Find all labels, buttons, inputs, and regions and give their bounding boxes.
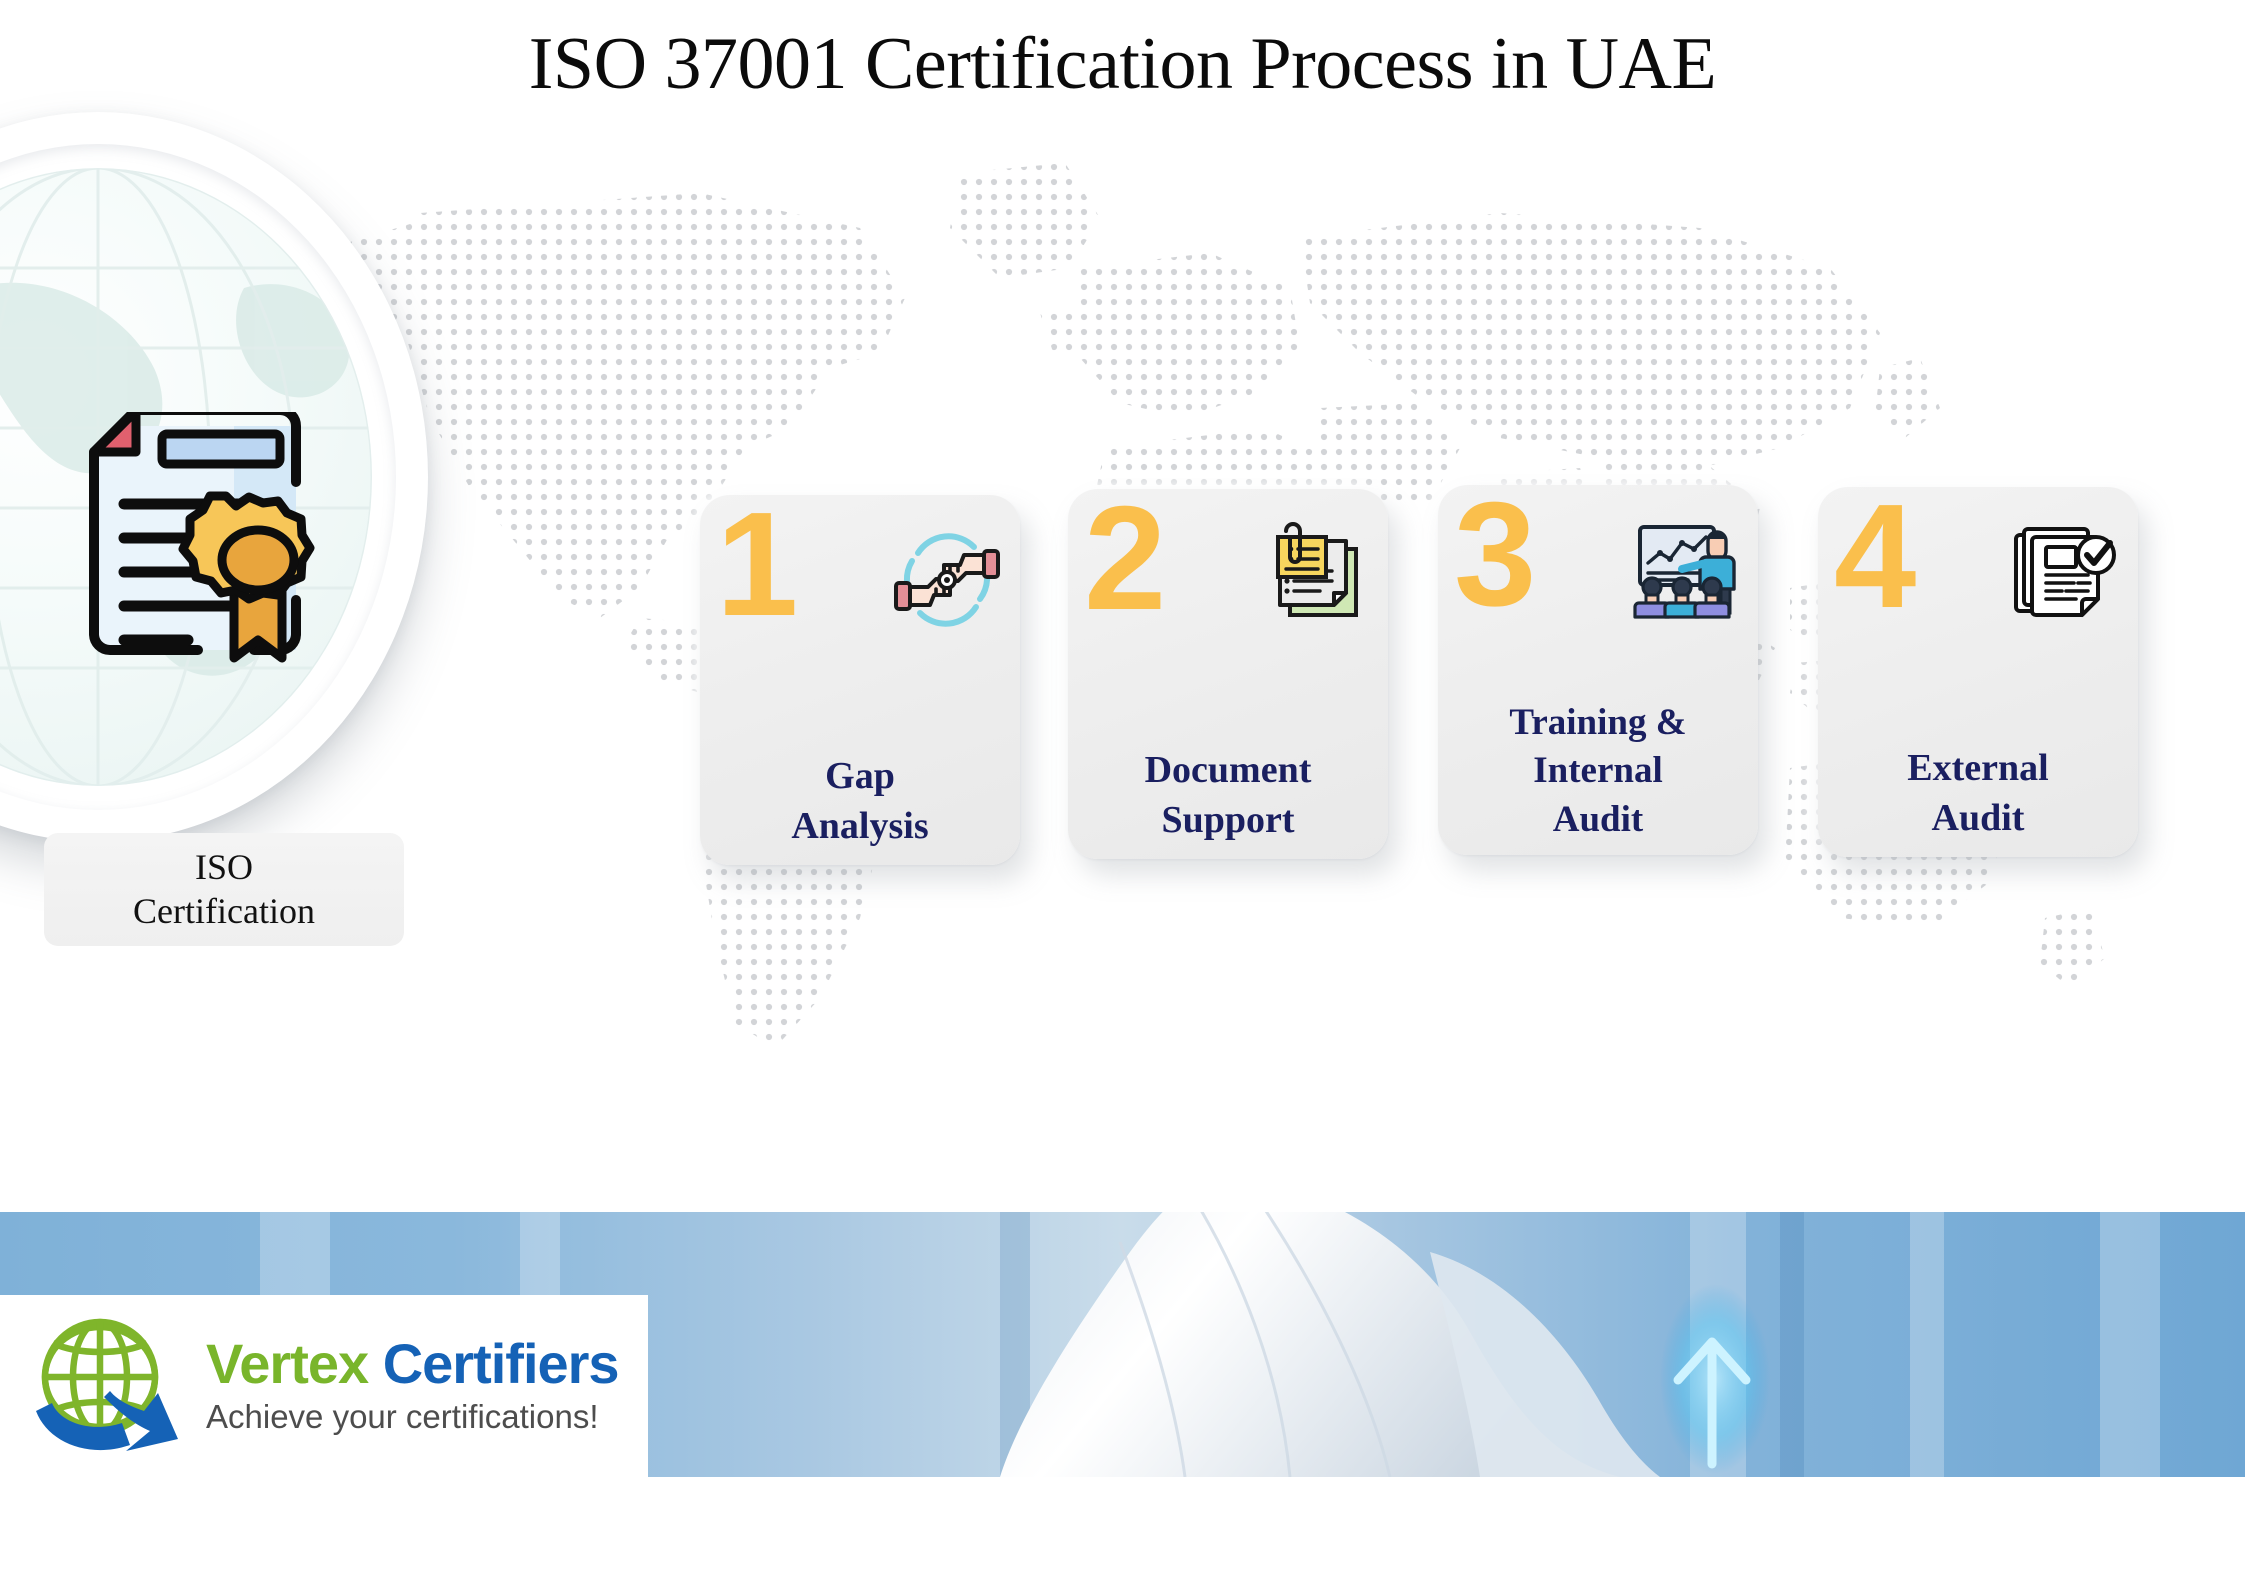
step-label-3: Training & Internal Audit [1438,699,1758,845]
logo-name: Vertex Certifiers [206,1336,619,1392]
handshake-partnership-icon [888,521,1006,639]
step-label-4-line1: External [1828,743,2128,793]
iso-certification-caption: ISO Certification [44,833,404,946]
step-number-4: 4 [1834,489,1910,625]
logo-name-part2: Certifiers [383,1332,619,1395]
globe-arrow-logo-icon [18,1311,200,1461]
step-card-document-support[interactable]: 2 [1068,489,1388,859]
certificate-seal-icon [48,412,318,672]
logo-tagline: Achieve your certifications! [206,1398,619,1436]
process-steps: 1 [700,485,2180,880]
page-title: ISO 37001 Certification Process in UAE [0,22,2245,107]
globe-illustration [0,112,428,842]
step-label-2: Document Support [1068,745,1388,845]
step-card-gap-analysis[interactable]: 1 [700,495,1020,865]
iso-caption-line1: ISO [195,846,253,890]
step-label-1: Gap Analysis [700,751,1020,851]
brand-logo[interactable]: Vertex Certifiers Achieve your certifica… [0,1295,648,1477]
step-label-2-line1: Document [1078,745,1378,795]
documents-clipboard-icon [1256,515,1374,633]
training-presentation-icon [1626,511,1744,629]
card-header: 3 [1438,485,1758,645]
step-label-3-line1: Training & [1448,699,1748,748]
card-header: 4 [1818,487,2138,647]
card-header: 1 [700,495,1020,655]
logo-name-part1: Vertex [206,1332,368,1395]
step-number-1: 1 [716,497,792,633]
step-label-4: External Audit [1818,743,2138,843]
step-label-1-line1: Gap [710,751,1010,801]
step-label-3-line2: Internal [1448,747,1748,796]
step-label-1-line2: Analysis [710,801,1010,851]
logo-text-block: Vertex Certifiers Achieve your certifica… [206,1336,619,1436]
step-card-external-audit[interactable]: 4 [1818,487,2138,857]
step-number-3: 3 [1454,487,1530,623]
step-number-2: 2 [1084,491,1160,627]
infographic-canvas: ISO 37001 Certification Process in UAE [0,0,2245,1587]
audit-checklist-icon [2006,513,2124,631]
step-label-4-line2: Audit [1828,793,2128,843]
iso-caption-line2: Certification [133,890,315,934]
step-card-training-internal-audit[interactable]: 3 [1438,485,1758,855]
step-label-3-line3: Audit [1448,796,1748,845]
card-header: 2 [1068,489,1388,649]
step-label-2-line2: Support [1078,795,1378,845]
